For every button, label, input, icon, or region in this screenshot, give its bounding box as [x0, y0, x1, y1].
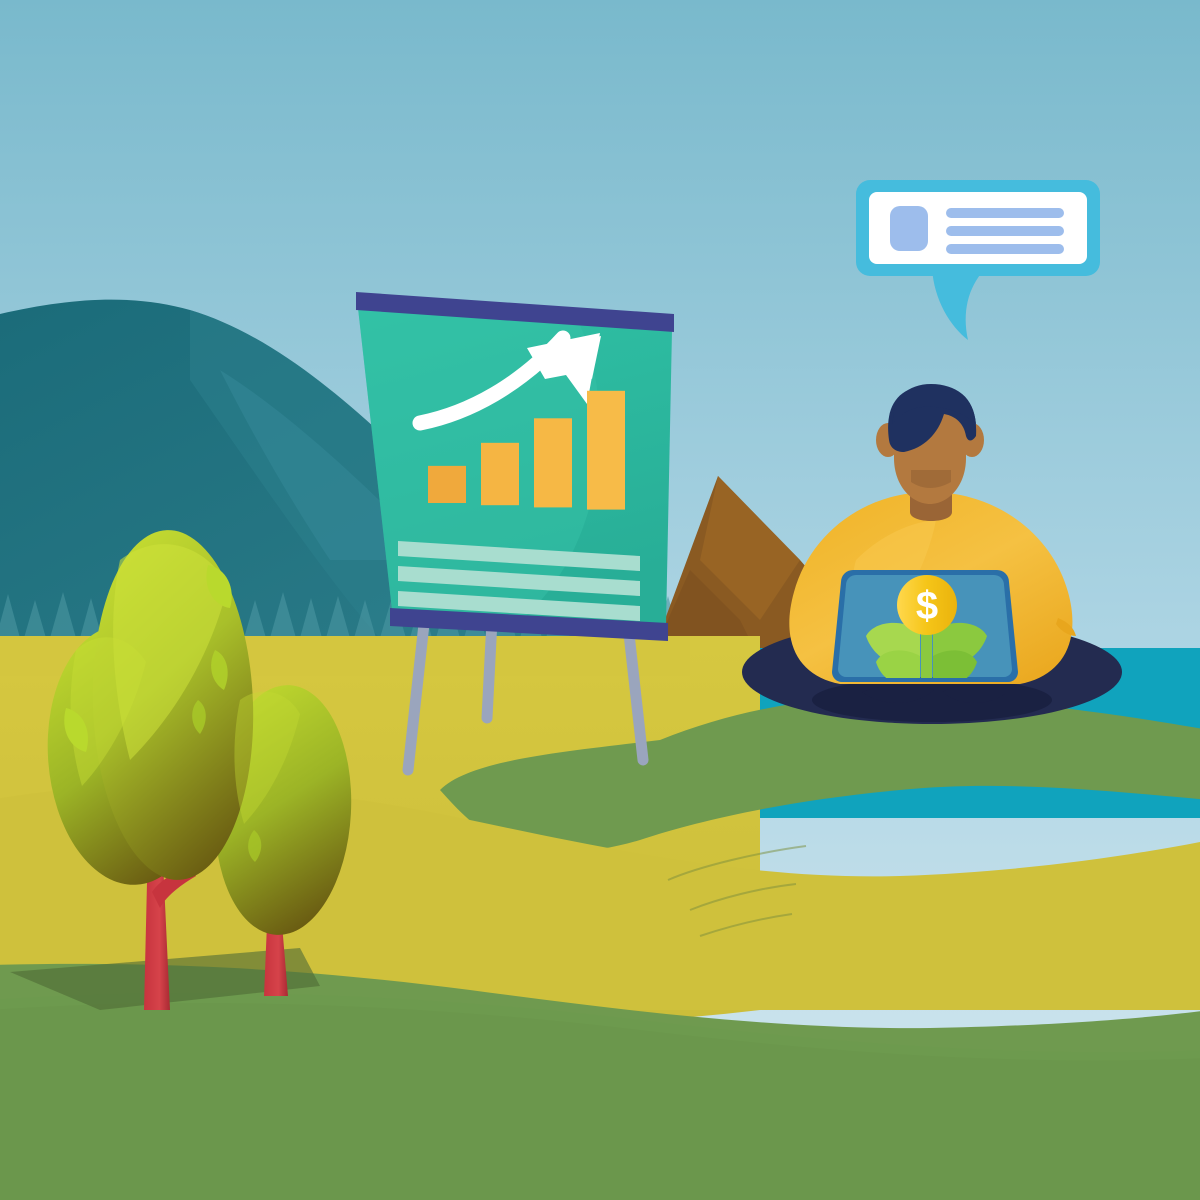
- coin-dollar-symbol: $: [916, 584, 938, 628]
- bar-3: [534, 418, 572, 507]
- laptop[interactable]: $: [832, 570, 1018, 690]
- bubble-line-2: [946, 226, 1064, 236]
- illustration-canvas: $: [0, 0, 1200, 1200]
- bubble-avatar-icon: [890, 206, 928, 251]
- bubble-line-1: [946, 208, 1064, 218]
- scene-svg: $: [0, 0, 1200, 1200]
- person-legs-shadow: [812, 678, 1052, 722]
- bar-1: [428, 466, 466, 503]
- bar-2: [481, 443, 519, 505]
- easel-leg-center: [487, 620, 492, 718]
- bubble-line-3: [946, 244, 1064, 254]
- bar-4: [587, 391, 625, 510]
